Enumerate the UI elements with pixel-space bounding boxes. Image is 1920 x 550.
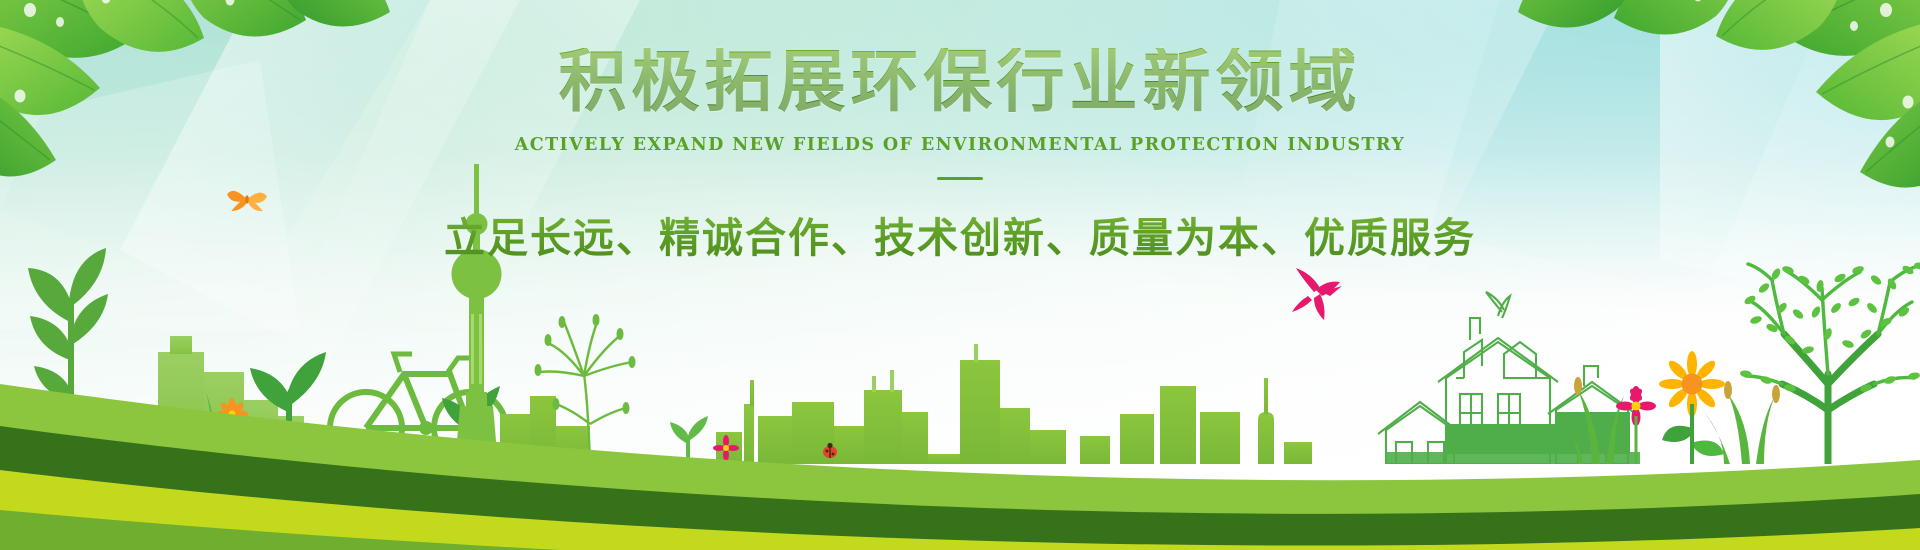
left-seedling bbox=[250, 352, 326, 464]
reed-tips bbox=[1574, 377, 1780, 403]
reed-buds bbox=[535, 314, 636, 414]
pink-flower-small bbox=[713, 435, 739, 461]
divider-rule bbox=[937, 177, 983, 180]
banner-slogan: 立足长远、精诚合作、技术创新、质量为本、优质服务 bbox=[0, 204, 1920, 264]
page-title: 积极拓展环保行业新领域 bbox=[0, 48, 1920, 117]
bicycle-icon bbox=[330, 354, 506, 464]
leaf bbox=[1518, 0, 1639, 28]
leaf bbox=[1716, 0, 1845, 50]
houses-lineart bbox=[1378, 292, 1636, 464]
leaf bbox=[275, 0, 390, 27]
left-thin-plants bbox=[206, 392, 242, 464]
wave-band-mid bbox=[0, 510, 1920, 550]
tree bbox=[1740, 262, 1920, 464]
city-skyline-right bbox=[1080, 378, 1312, 464]
bike-sprout bbox=[442, 386, 500, 464]
ladybug-icon bbox=[823, 443, 837, 458]
tree-leaves bbox=[1740, 262, 1920, 393]
houses-ground bbox=[1386, 412, 1640, 464]
reed-cluster bbox=[540, 320, 632, 464]
small-sprig bbox=[670, 416, 708, 464]
left-grass bbox=[96, 406, 162, 464]
bicycle-ground bbox=[318, 441, 500, 464]
leaf bbox=[181, 0, 306, 37]
city-skyline-center bbox=[716, 360, 1066, 464]
city-skyline-left bbox=[130, 336, 304, 464]
wave-bands bbox=[0, 340, 1920, 550]
banner-copy: 积极拓展环保行业新领域 ACTIVELY EXPAND NEW FIELDS O… bbox=[0, 48, 1920, 264]
wave-band-dark bbox=[0, 426, 1920, 550]
leaf bbox=[1614, 0, 1739, 35]
leaf bbox=[76, 0, 205, 52]
banner-subtitle: ACTIVELY EXPAND NEW FIELDS OF ENVIRONMEN… bbox=[0, 135, 1920, 155]
hummingbird-icon bbox=[1292, 268, 1342, 320]
sunflower bbox=[1659, 351, 1725, 464]
city-skyline-center-accents bbox=[872, 344, 978, 392]
left-sapling bbox=[28, 248, 108, 464]
pink-flower bbox=[1616, 386, 1656, 464]
city-skyline-mid-left bbox=[500, 396, 590, 464]
orange-daisy bbox=[216, 398, 248, 430]
right-grass bbox=[1556, 390, 1774, 464]
wave-band-light bbox=[0, 384, 1920, 550]
eco-banner: 积极拓展环保行业新领域 ACTIVELY EXPAND NEW FIELDS O… bbox=[0, 0, 1920, 550]
wave-band-yellow bbox=[0, 470, 1920, 550]
